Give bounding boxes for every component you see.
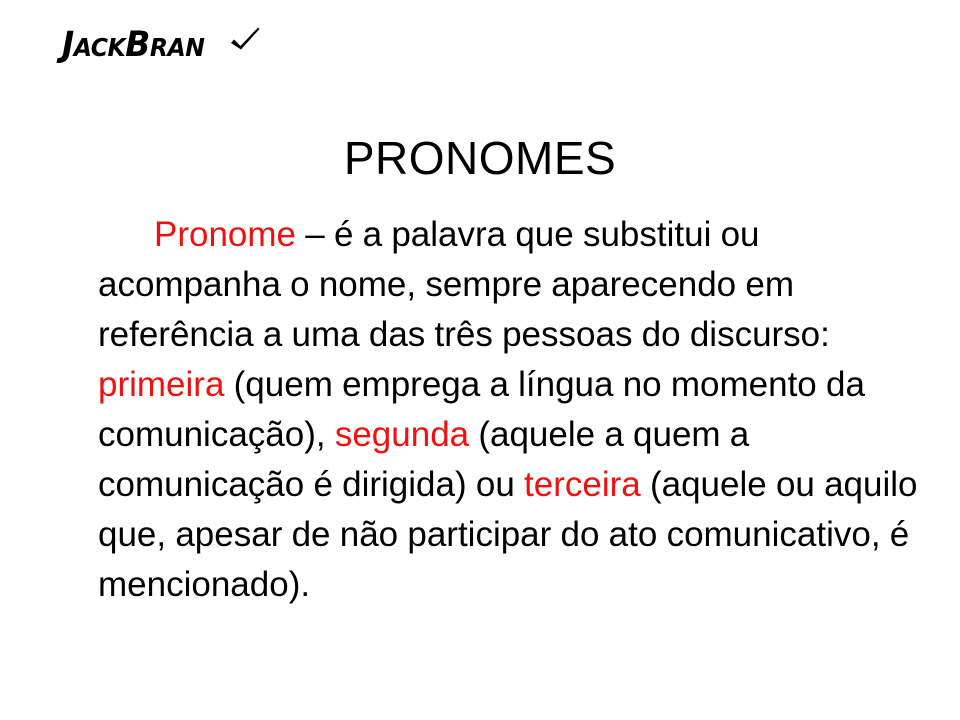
highlighted-term: segunda bbox=[335, 415, 469, 454]
highlighted-term: primeira bbox=[98, 365, 224, 404]
body-text-block: Pronome – é a palavra que substitui ou a… bbox=[98, 210, 920, 610]
slide-canvas: JackBran PRONOMES Pronome – é a palavra … bbox=[0, 0, 960, 720]
brand-logo: JackBran bbox=[62, 28, 262, 63]
page-title: PRONOMES bbox=[0, 134, 960, 182]
brand-wordmark: JackBran bbox=[62, 28, 204, 63]
highlighted-term: Pronome bbox=[154, 215, 296, 254]
highlighted-term: terceira bbox=[524, 465, 641, 504]
definition-paragraph: Pronome – é a palavra que substitui ou a… bbox=[98, 210, 920, 610]
check-icon bbox=[228, 24, 262, 58]
